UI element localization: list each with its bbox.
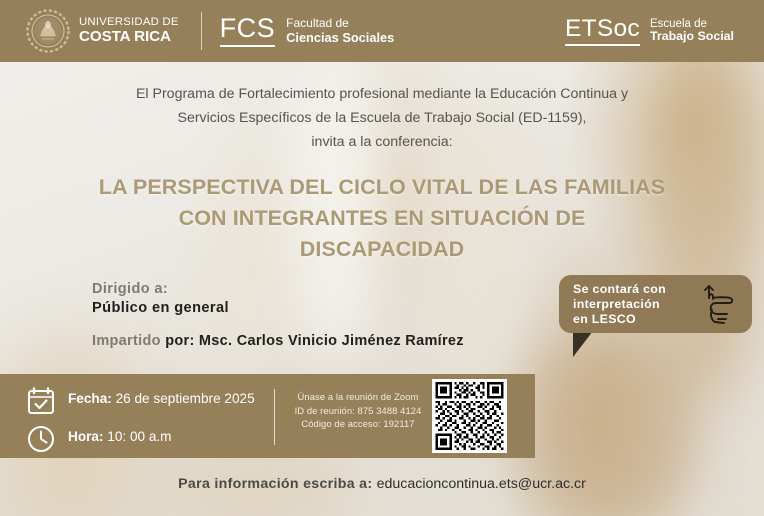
title-line-1: LA PERSPECTIVA DEL CICLO VITAL DE LAS FA… [0, 172, 764, 203]
qr-code-icon [435, 382, 504, 450]
lesco-line-3: en LESCO [573, 312, 666, 327]
lesco-line-1: Se contará con [573, 282, 666, 297]
audience-label: Dirigido a: [92, 280, 229, 299]
fcs-mark: FCS [220, 15, 276, 47]
speaker-block: Impartido por: Msc. Carlos Vinicio Jimén… [92, 331, 512, 351]
ucr-logo: UNIVERSIDAD DE COSTA RICA [26, 9, 179, 53]
event-time: Hora: 10: 00 a.m [68, 428, 172, 446]
ucr-line-2: COSTA RICA [79, 29, 179, 45]
etsoc-name: Escuela de Trabajo Social [650, 18, 734, 45]
event-date: Fecha: 26 de septiembre 2025 [68, 390, 255, 408]
zoom-line-1: Únase a la reunión de Zoom [288, 390, 428, 404]
conference-title: LA PERSPECTIVA DEL CICLO VITAL DE LAS FA… [0, 172, 764, 265]
etsoc-line-2: Trabajo Social [650, 30, 734, 44]
zoom-meeting-info: Únase a la reunión de Zoom ID de reunión… [288, 390, 428, 431]
header-divider [201, 12, 202, 50]
speaker-label: Impartido [92, 333, 161, 349]
audience-block: Dirigido a: Público en general [92, 280, 229, 318]
etsoc-abbreviation: ETSoc [565, 17, 640, 42]
fcs-logo: FCS Facultad de Ciencias Sociales [220, 15, 395, 47]
title-line-2: CON INTEGRANTES EN SITUACIÓN DE [0, 203, 764, 234]
calendar-check-icon [26, 386, 56, 416]
sign-language-hand-icon [696, 281, 740, 327]
lesco-badge: Se contará con interpretación en LESCO [559, 275, 752, 333]
etsoc-underline [565, 44, 640, 46]
intro-line-1: El Programa de Fortalecimiento profesion… [0, 82, 764, 106]
etsoc-mark: ETSoc [565, 17, 640, 46]
intro-line-2: Servicios Específicos de la Escuela de T… [0, 106, 764, 130]
time-value: 10: 00 a.m [104, 429, 172, 444]
clock-icon [26, 424, 56, 454]
lesco-bubble: Se contará con interpretación en LESCO [559, 275, 752, 333]
zoom-line-3: Código de acceso: 192117 [288, 417, 428, 431]
band-divider [274, 389, 275, 445]
contact-label: Para información escriba a: [178, 476, 372, 492]
fcs-underline [220, 45, 276, 47]
contact-footer: Para información escriba a: educacioncon… [0, 476, 764, 492]
lesco-text: Se contará con interpretación en LESCO [573, 282, 666, 327]
date-value: 26 de septiembre 2025 [112, 391, 255, 406]
conference-poster: UNIVERSIDAD DE COSTA RICA FCS Facultad d… [0, 0, 764, 516]
speaker-value: por: Msc. Carlos Vinicio Jiménez Ramírez [165, 333, 464, 349]
fcs-line-2: Ciencias Sociales [286, 31, 394, 45]
ucr-logo-text: UNIVERSIDAD DE COSTA RICA [79, 17, 179, 44]
zoom-line-2: ID de reunión: 875 3488 4124 [288, 404, 428, 418]
intro-line-3: invita a la conferencia: [0, 130, 764, 154]
ucr-seal-icon [26, 9, 70, 53]
etsoc-logo: ETSoc Escuela de Trabajo Social [565, 17, 734, 46]
poster-header-bar: UNIVERSIDAD DE COSTA RICA FCS Facultad d… [0, 0, 764, 62]
title-line-3: DISCAPACIDAD [0, 234, 764, 265]
intro-paragraph: El Programa de Fortalecimiento profesion… [0, 82, 764, 154]
audience-value: Público en general [92, 299, 229, 318]
qr-code[interactable] [432, 379, 507, 453]
date-label: Fecha: [68, 391, 112, 406]
fcs-line-1: Facultad de [286, 17, 394, 30]
contact-email[interactable]: educacioncontinua.ets@ucr.ac.cr [377, 476, 586, 492]
fcs-abbreviation: FCS [220, 15, 276, 42]
lesco-line-2: interpretación [573, 297, 666, 312]
fcs-name: Facultad de Ciencias Sociales [286, 17, 394, 45]
lesco-bubble-tail [573, 331, 593, 357]
time-label: Hora: [68, 429, 104, 444]
